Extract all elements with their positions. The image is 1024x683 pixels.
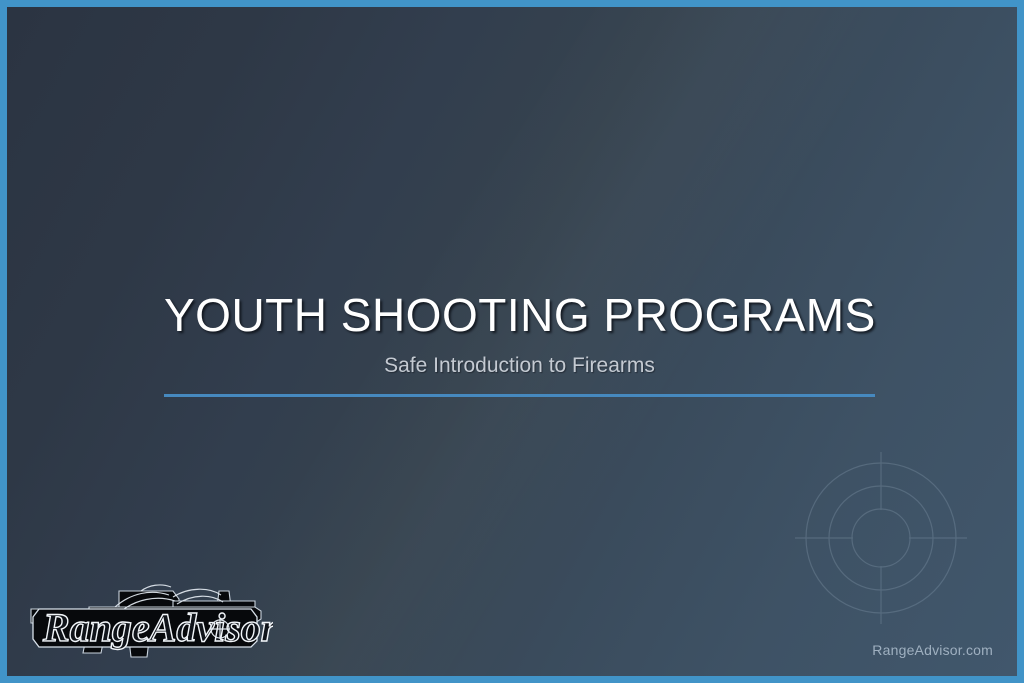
footer-website-url: RangeAdvisor.com [872, 642, 993, 658]
logo-wordmark: RangeAdvisor [42, 605, 273, 650]
rangeadvisor-logo: RangeAdvisor [23, 573, 273, 665]
accent-rule-divider [164, 394, 875, 397]
presentation-slide: YOUTH SHOOTING PROGRAMS Safe Introductio… [0, 0, 1024, 683]
slide-subtitle: Safe Introduction to Firearms [164, 353, 875, 378]
page-title: YOUTH SHOOTING PROGRAMS [164, 291, 875, 341]
title-block: YOUTH SHOOTING PROGRAMS Safe Introductio… [164, 291, 875, 378]
